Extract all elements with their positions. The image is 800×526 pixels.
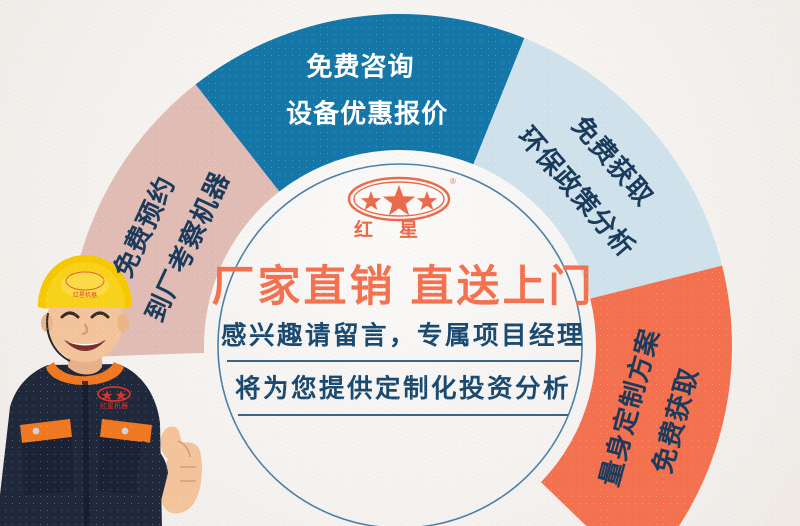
worker-ear-right <box>117 314 129 332</box>
helmet-logo-text: 红星机器 <box>73 291 97 299</box>
pocket-button-right <box>122 428 129 435</box>
subtitle-line-2: 将为您提供定制化投资分析 <box>235 375 571 404</box>
pocket-left <box>22 437 74 495</box>
subtitle-line-1: 感兴趣请留言，专属项目经理 <box>221 322 585 351</box>
page-title: 厂家直销 直送上门 <box>212 266 595 309</box>
banner-canvas: ® 红星 厂家直销 直送上门 感兴趣请留言，专属项目经理 将为您提供定制化投资分… <box>0 0 800 526</box>
center-content: ® 红星 厂家直销 直送上门 感兴趣请留言，专属项目经理 将为您提供定制化投资分… <box>178 168 628 468</box>
badge-text: 红星机器 <box>100 401 128 410</box>
pocket-button-left <box>33 428 40 435</box>
logo-wordmark: 红星 <box>354 218 444 240</box>
divider-1 <box>227 360 579 362</box>
smiling-worker-photo: 红星机器 红星机器 <box>0 245 222 526</box>
divider-2 <box>238 414 568 416</box>
registered-mark: ® <box>450 177 456 186</box>
red-star-logo: ® 红星 <box>339 174 467 240</box>
